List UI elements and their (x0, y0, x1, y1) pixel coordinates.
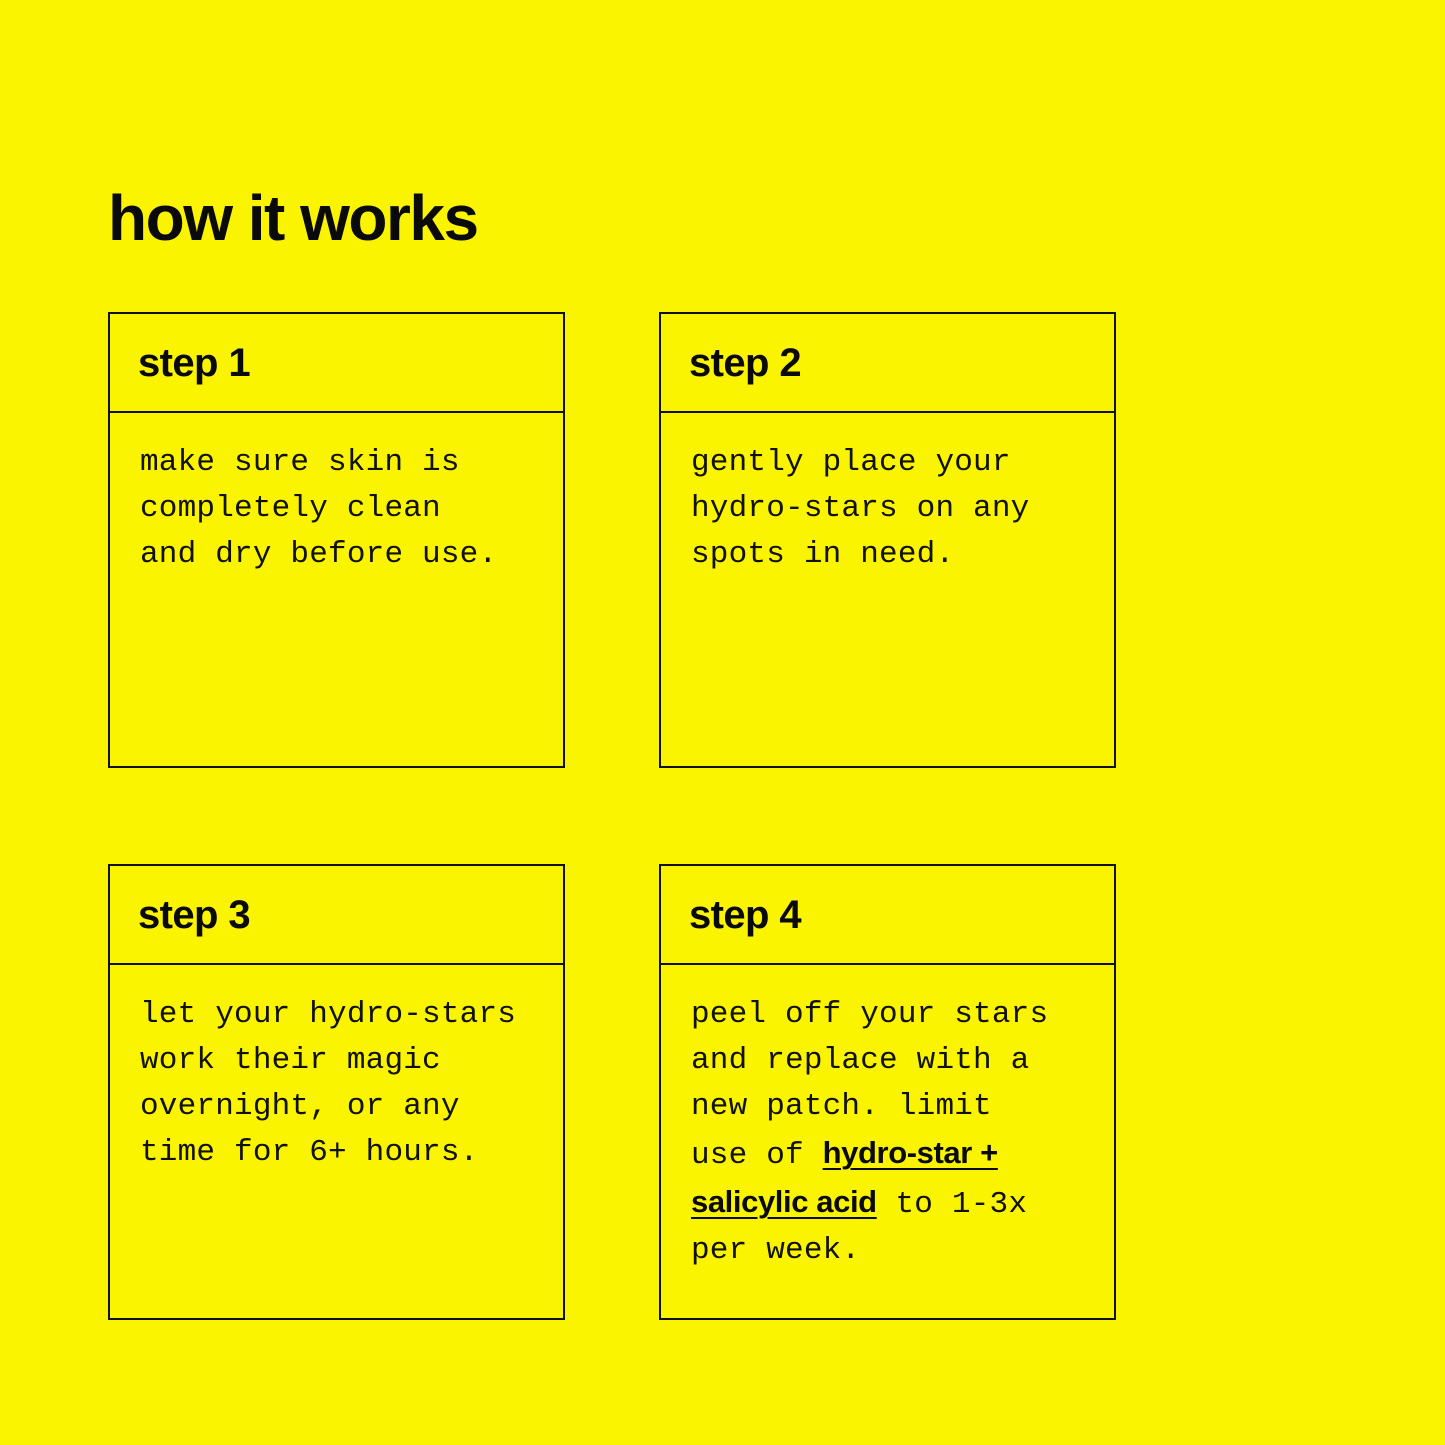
how-it-works-panel: how it works step 1 make sure skin is co… (0, 0, 1445, 1445)
step-card-3-body: let your hydro-stars work their magic ov… (110, 965, 563, 1318)
steps-row-top: step 1 make sure skin is completely clea… (108, 312, 1119, 768)
step-card-4: step 4 peel off your stars and replace w… (659, 864, 1116, 1320)
step-card-4-label: step 4 (689, 895, 801, 935)
step-card-1-body-text: make sure skin is completely clean and d… (140, 440, 547, 578)
hydro-star-salicylic-acid-link-part-2[interactable]: salicylic acid (691, 1184, 877, 1219)
step-card-2: step 2 gently place your hydro-stars on … (659, 312, 1116, 768)
step-card-2-body-text: gently place your hydro-stars on any spo… (691, 440, 1098, 578)
hydro-star-salicylic-acid-link-part-1[interactable]: hydro-star + (823, 1135, 998, 1170)
step-card-3-label: step 3 (138, 895, 250, 935)
step-card-2-header: step 2 (661, 314, 1114, 413)
step-card-3-header: step 3 (110, 866, 563, 965)
step-card-1-label: step 1 (138, 343, 250, 383)
step-card-1: step 1 make sure skin is completely clea… (108, 312, 565, 768)
step-card-3-body-text: let your hydro-stars work their magic ov… (140, 992, 547, 1176)
step-card-4-body-text: peel off your stars and replace with a n… (691, 992, 1098, 1274)
step-card-3: step 3 let your hydro-stars work their m… (108, 864, 565, 1320)
steps-row-bottom: step 3 let your hydro-stars work their m… (108, 864, 1119, 1320)
step-card-1-header: step 1 (110, 314, 563, 413)
steps-grid: step 1 make sure skin is completely clea… (108, 312, 1119, 1320)
step-card-4-header: step 4 (661, 866, 1114, 965)
step-card-4-body: peel off your stars and replace with a n… (661, 965, 1114, 1318)
step-card-2-label: step 2 (689, 343, 801, 383)
step-card-1-body: make sure skin is completely clean and d… (110, 413, 563, 766)
step-card-2-body: gently place your hydro-stars on any spo… (661, 413, 1114, 766)
page-title: how it works (108, 186, 478, 250)
